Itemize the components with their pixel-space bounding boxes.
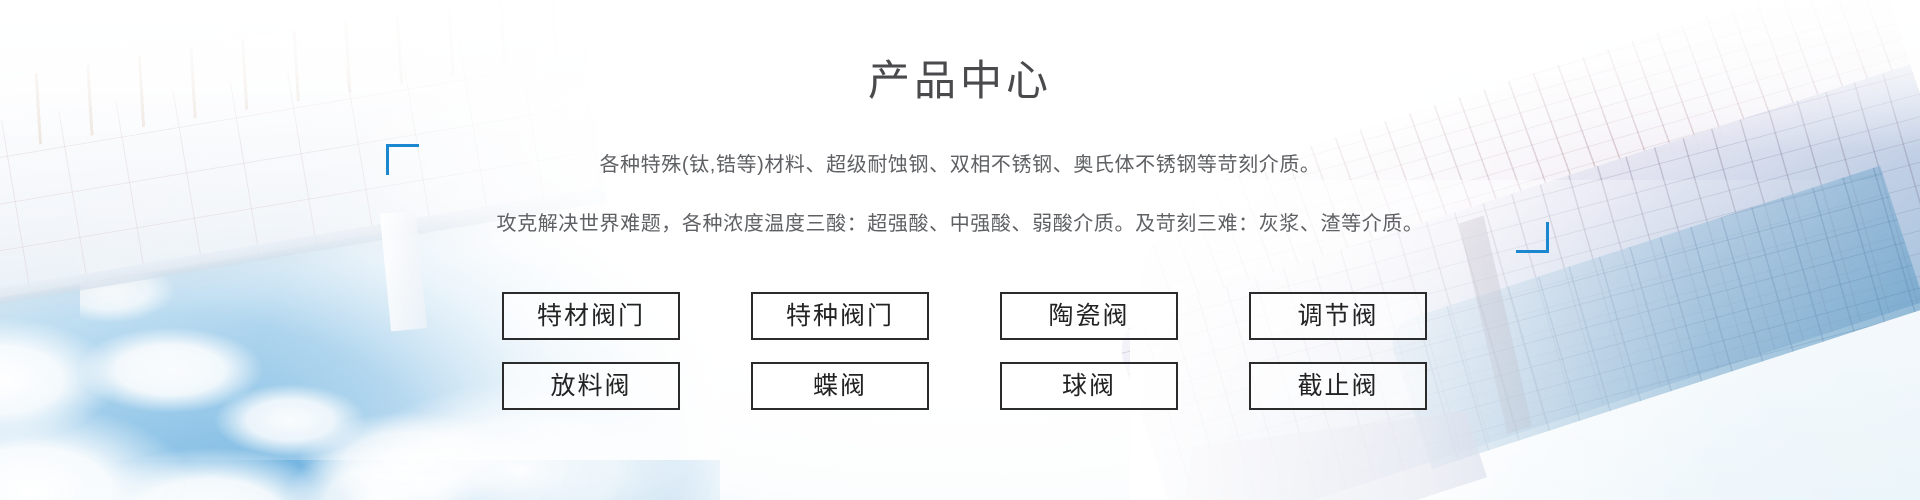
category-button-tao-ci-fa[interactable]: 陶瓷阀 — [1000, 292, 1178, 340]
category-button-te-zhong-fa-men[interactable]: 特种阀门 — [751, 292, 929, 340]
product-category-grid: 特材阀门 特种阀门 陶瓷阀 调节阀 放料阀 蝶阀 球阀 截止阀 — [502, 292, 1427, 410]
category-button-tiao-jie-fa[interactable]: 调节阀 — [1249, 292, 1427, 340]
page-title: 产品中心 — [0, 52, 1920, 110]
category-button-fang-liao-fa[interactable]: 放料阀 — [502, 362, 680, 410]
category-button-te-cai-fa-men[interactable]: 特材阀门 — [502, 292, 680, 340]
description-line-1: 各种特殊(钛,锆等)材料、超级耐蚀钢、双相不锈钢、奥氏体不锈钢等苛刻介质。 — [0, 150, 1920, 180]
category-button-die-fa[interactable]: 蝶阀 — [751, 362, 929, 410]
category-button-jie-zhi-fa[interactable]: 截止阀 — [1249, 362, 1427, 410]
description-line-2: 攻克解决世界难题，各种浓度温度三酸：超强酸、中强酸、弱酸介质。及苛刻三难：灰浆、… — [0, 209, 1920, 239]
product-center-banner: 产品中心 各种特殊(钛,锆等)材料、超级耐蚀钢、双相不锈钢、奥氏体不锈钢等苛刻介… — [0, 0, 1920, 500]
category-button-qiu-fa[interactable]: 球阀 — [1000, 362, 1178, 410]
banner-content: 产品中心 各种特殊(钛,锆等)材料、超级耐蚀钢、双相不锈钢、奥氏体不锈钢等苛刻介… — [0, 0, 1920, 500]
